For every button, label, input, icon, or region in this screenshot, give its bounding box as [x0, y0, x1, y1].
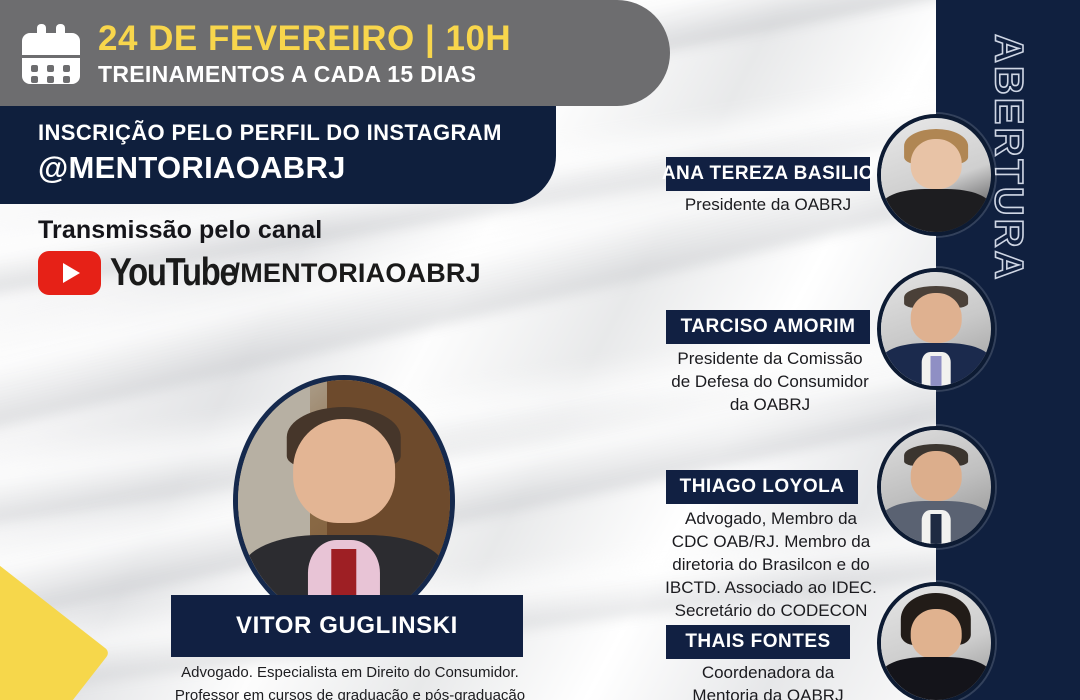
avatar-thais-fontes	[877, 582, 995, 700]
speaker-role: Advogado, Membro da CDC OAB/RJ. Membro d…	[648, 508, 894, 623]
instagram-banner: INSCRIÇÃO PELO PERFIL DO INSTAGRAM @MENT…	[0, 106, 556, 204]
main-speaker-name: VITOR GUGLINSKI	[236, 612, 458, 640]
avatar-tarciso-amorim	[877, 268, 995, 390]
event-frequency: TREINAMENTOS A CADA 15 DIAS	[98, 63, 511, 86]
youtube-play-icon	[38, 251, 101, 295]
speaker-name: ANA TEREZA BASILIO	[662, 163, 874, 185]
main-speaker-role-line1: Advogado. Especialista em Direito do Con…	[140, 662, 560, 685]
main-speaker-role-line2: Professor em cursos de graduação e pós-g…	[140, 685, 560, 700]
instagram-instruction: INSCRIÇÃO PELO PERFIL DO INSTAGRAM	[38, 120, 556, 146]
speaker-role: Presidente da OABRJ	[648, 194, 888, 217]
avatar-ana-tereza-basilio	[877, 114, 995, 236]
broadcast-label: Transmissão pelo canal	[38, 216, 481, 245]
youtube-block: Transmissão pelo canal YouTube /MENTORIA…	[38, 216, 481, 295]
speaker-name: THAIS FONTES	[685, 631, 830, 653]
speaker-name: THIAGO LOYOLA	[680, 476, 845, 498]
main-speaker-role: Advogado. Especialista em Direito do Con…	[140, 662, 560, 700]
calendar-icon	[22, 24, 80, 84]
youtube-wordmark: YouTube	[110, 251, 236, 295]
speaker-name-badge: TARCISO AMORIM	[666, 310, 870, 344]
speaker-name: TARCISO AMORIM	[681, 316, 856, 338]
event-date: 24 DE FEVEREIRO | 10H	[98, 21, 511, 56]
avatar-vitor-guglinski	[233, 375, 455, 627]
youtube-channel-handle[interactable]: /MENTORIAOABRJ	[233, 258, 481, 289]
avatar-thiago-loyola	[877, 426, 995, 548]
event-poster: ABERTURA 24 DE FEVEREIRO | 10H TREINAMEN…	[0, 0, 1080, 700]
speaker-role: Coordenadora da Mentoria da OABRJ	[648, 662, 888, 700]
main-speaker-name-badge: VITOR GUGLINSKI	[171, 595, 523, 657]
speaker-name-badge: THAIS FONTES	[666, 625, 850, 659]
speaker-name-badge: THIAGO LOYOLA	[666, 470, 858, 504]
date-banner: 24 DE FEVEREIRO | 10H TREINAMENTOS A CAD…	[0, 0, 670, 106]
instagram-handle[interactable]: @MENTORIAOABRJ	[38, 150, 556, 186]
speaker-name-badge: ANA TEREZA BASILIO	[666, 157, 870, 191]
speaker-role: Presidente da Comissão de Defesa do Cons…	[648, 348, 892, 417]
